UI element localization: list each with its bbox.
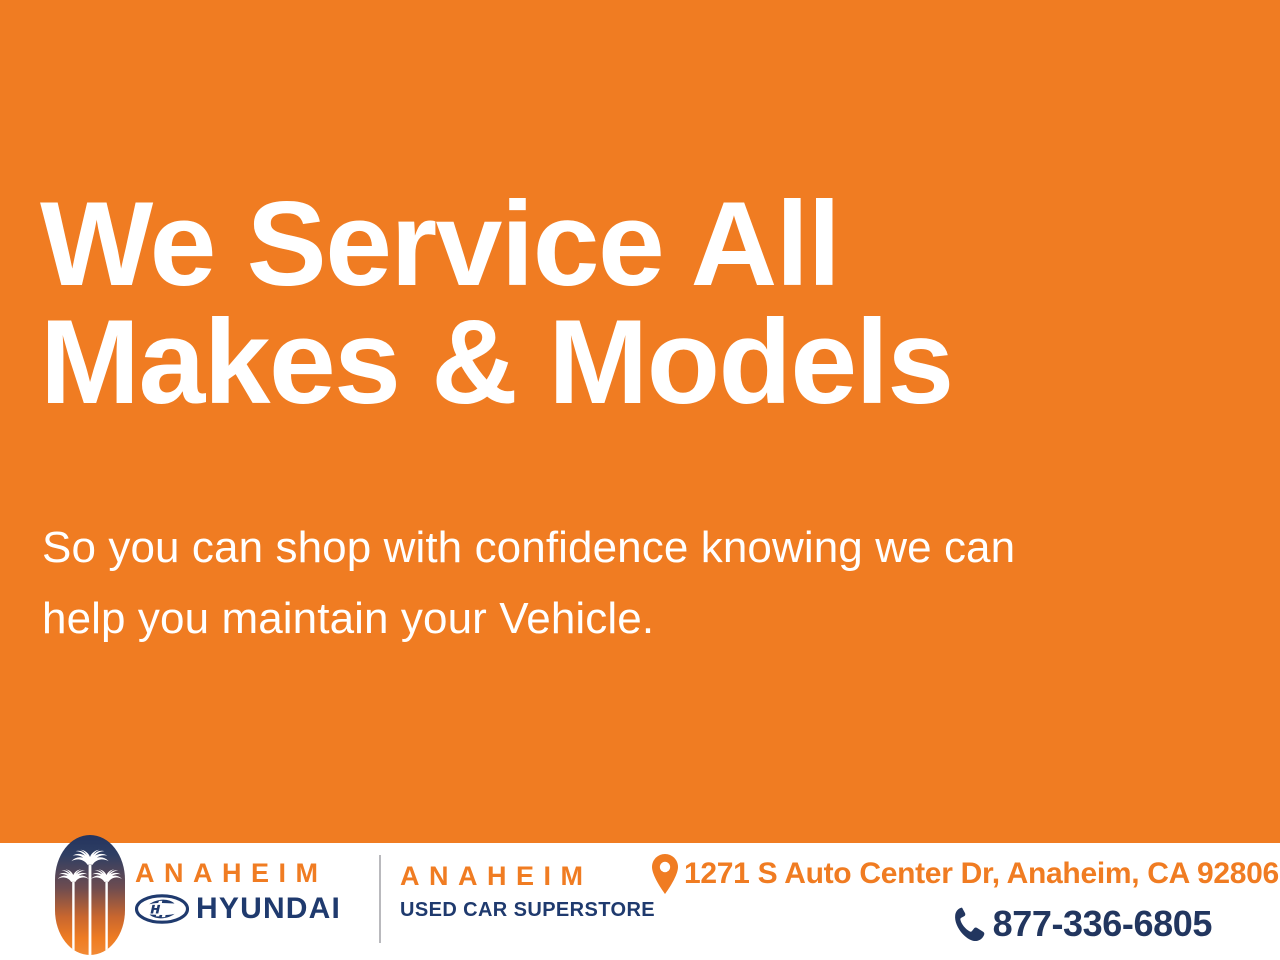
address-row[interactable]: 1271 S Auto Center Dr, Anaheim, CA 92806 [650, 851, 1250, 897]
phone-number: 877-336-6805 [993, 903, 1212, 945]
footer-bar: ANAHEIM HYUNDAI ANAHEIM USED CAR S [0, 843, 1280, 960]
hyundai-wordmark: HYUNDAI [196, 894, 341, 924]
address-text: 1271 S Auto Center Dr, Anaheim, CA 92806 [684, 857, 1279, 891]
phone-icon [953, 906, 987, 942]
anaheim-hyundai-logo[interactable]: ANAHEIM HYUNDAI [133, 860, 365, 938]
hyundai-anaheim-text: ANAHEIM [133, 860, 365, 887]
hyundai-brand-row: HYUNDAI [133, 894, 365, 924]
page-title: We Service All Makes & Models [40, 186, 1220, 421]
palm-trees-badge-icon [55, 835, 125, 955]
map-pin-icon [650, 853, 680, 895]
service-banner: We Service All Makes & Models So you can… [0, 0, 1280, 960]
hyundai-emblem-icon [135, 894, 189, 924]
logo-divider [379, 855, 381, 943]
ucs-tagline: USED CAR SUPERSTORE [398, 900, 628, 920]
ucs-anaheim-text: ANAHEIM [398, 863, 628, 890]
contact-block: 1271 S Auto Center Dr, Anaheim, CA 92806… [650, 851, 1250, 953]
phone-row[interactable]: 877-336-6805 [650, 899, 1250, 949]
page-subtitle: So you can shop with confidence knowing … [42, 512, 1212, 655]
hero-panel: We Service All Makes & Models So you can… [0, 0, 1280, 843]
anaheim-used-car-superstore-logo[interactable]: ANAHEIM USED CAR SUPERSTORE [398, 863, 628, 935]
